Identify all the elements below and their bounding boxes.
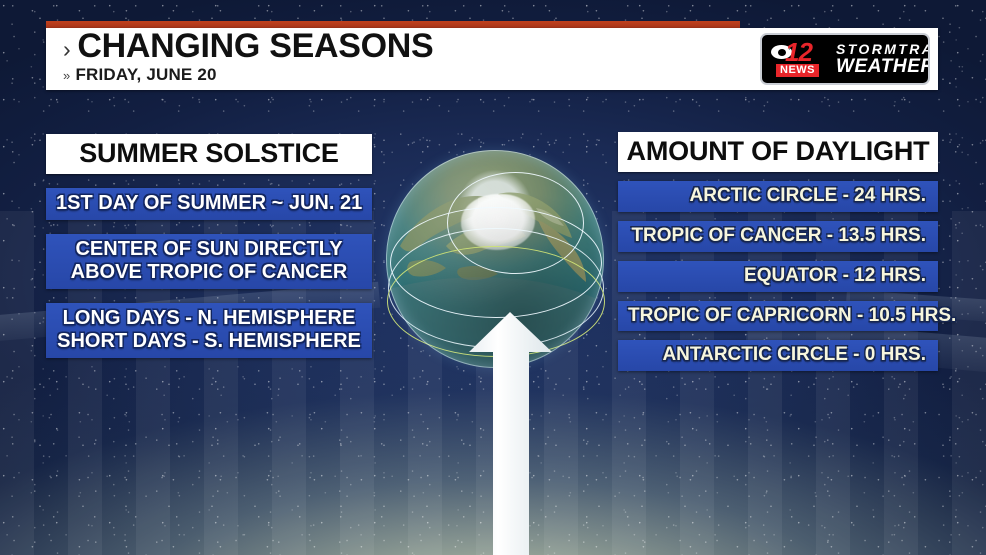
sun-direction-arrow (455, 308, 565, 555)
brand-wordmark: STORMTRAC WEATHER (836, 42, 930, 76)
list-item: TROPIC OF CANCER - 13.5 HRS. (618, 221, 938, 252)
list-item-line: SHORT DAYS - S. HEMISPHERE (56, 330, 362, 353)
header-subtitle-text: FRIDAY, JUNE 20 (75, 65, 216, 85)
list-item-line: 1ST DAY OF SUMMER ~ JUN. 21 (56, 192, 362, 215)
list-item-line: TROPIC OF CANCER - 13.5 HRS. (628, 225, 926, 247)
list-item-line: ANTARCTIC CIRCLE - 0 HRS. (628, 344, 926, 366)
list-item-line: LONG DAYS - N. HEMISPHERE (56, 307, 362, 330)
brand-line-stormtrac: STORMTRAC (836, 42, 930, 56)
header-text-group: › CHANGING SEASONS » FRIDAY, JUNE 20 (63, 29, 433, 85)
header-title-bar: › CHANGING SEASONS » FRIDAY, JUNE 20 12 … (46, 28, 938, 90)
list-item: LONG DAYS - N. HEMISPHERE SHORT DAYS - S… (46, 303, 372, 358)
double-chevron-right-icon: » (63, 68, 70, 83)
news-label: NEWS (776, 64, 819, 77)
amount-of-daylight-panel: AMOUNT OF DAYLIGHT ARCTIC CIRCLE - 24 HR… (618, 132, 938, 371)
list-item-line: ARCTIC CIRCLE - 24 HRS. (628, 185, 926, 207)
station-logo: 12 NEWS STORMTRAC WEATHER (760, 33, 930, 85)
header-banner: › CHANGING SEASONS » FRIDAY, JUNE 20 12 … (46, 21, 938, 90)
summer-solstice-panel: SUMMER SOLSTICE 1ST DAY OF SUMMER ~ JUN.… (46, 134, 372, 358)
list-item-line: EQUATOR - 12 HRS. (628, 265, 926, 287)
amount-of-daylight-heading: AMOUNT OF DAYLIGHT (618, 132, 938, 172)
list-item: 1ST DAY OF SUMMER ~ JUN. 21 (46, 188, 372, 220)
page-title-text: CHANGING SEASONS (77, 29, 433, 63)
cbs-network-mark: 12 NEWS (771, 39, 829, 79)
channel-number: 12 (785, 39, 812, 65)
list-item: TROPIC OF CAPRICORN - 10.5 HRS. (618, 301, 938, 332)
header-subtitle: » FRIDAY, JUNE 20 (63, 65, 433, 85)
page-title: › CHANGING SEASONS (63, 29, 433, 63)
list-item-line: CENTER OF SUN DIRECTLY (56, 238, 362, 261)
list-item: CENTER OF SUN DIRECTLY ABOVE TROPIC OF C… (46, 234, 372, 289)
summer-solstice-heading: SUMMER SOLSTICE (46, 134, 372, 174)
list-item: ANTARCTIC CIRCLE - 0 HRS. (618, 340, 938, 371)
list-item-line: ABOVE TROPIC OF CANCER (56, 261, 362, 284)
list-item: EQUATOR - 12 HRS. (618, 261, 938, 292)
list-item-line: TROPIC OF CAPRICORN - 10.5 HRS. (628, 305, 926, 327)
list-item: ARCTIC CIRCLE - 24 HRS. (618, 181, 938, 212)
brand-line-weather: WEATHER (836, 57, 930, 76)
polar-ice-cap (461, 194, 535, 250)
weather-graphic-screen: › CHANGING SEASONS » FRIDAY, JUNE 20 12 … (0, 0, 986, 555)
chevron-right-icon: › (63, 38, 70, 61)
